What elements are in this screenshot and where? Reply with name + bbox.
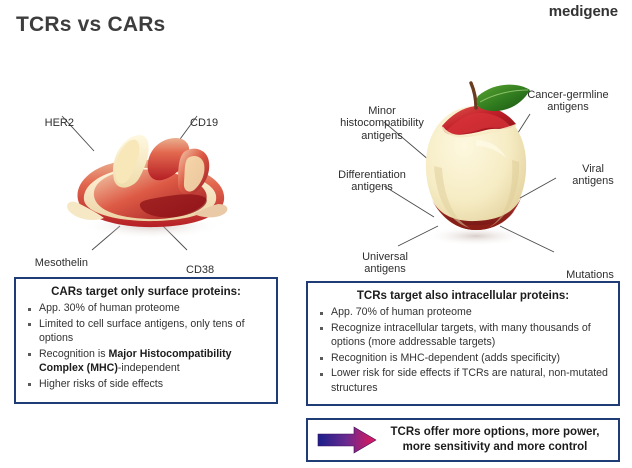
apple-peel-art [60,122,240,242]
callout-universal: Universal antigens [338,238,432,276]
bullet-text-cars-3: Higher risks of side effects [39,378,163,390]
callout-her2: HER2 [4,104,74,129]
callout-mutations: Mutations [548,256,632,281]
callout-cd19-label: CD19 [190,117,218,129]
medigene-logo: medigene [549,3,618,20]
cars-bullet-list: App. 30% of human proteome Limited to ce… [16,301,276,391]
page-title: TCRs vs CARs [16,13,165,37]
callout-cancer-germline: Cancer-germline antigens [504,76,632,114]
right-arrow-icon [316,426,378,454]
bullet-text-tcrs-3: Lower risk for side effects if TCRs are … [331,367,608,394]
cars-illustration-pane: HER2 CD19 Mesothelin CD38 [0,74,300,274]
callout-cd38: CD38 [186,251,256,276]
list-item: App. 70% of human proteome [318,305,610,320]
bullet-text-cars-0: App. 30% of human proteome [39,302,180,314]
list-item: Recognize intracellular targets, with ma… [318,321,610,350]
bullet-text-cars-1: Limited to cell surface antigens, only t… [39,318,245,345]
callout-mesothelin-label: Mesothelin [35,257,88,269]
callout-universal-label: Universal antigens [362,251,408,276]
tcrs-bullet-list: App. 70% of human proteome Recognize int… [308,305,618,395]
tcrs-box-heading: TCRs target also intracellular proteins: [308,283,618,305]
callout-cancer-germline-label: Cancer-germline antigens [527,89,608,114]
cars-box-heading: CARs target only surface proteins: [16,279,276,301]
callout-minor-histocompatibility-label: Minor histocompatibility antigens [340,105,424,142]
tcrs-illustration-pane: Minor histocompatibility antigens Cancer… [318,74,632,276]
tcrs-info-box: TCRs target also intracellular proteins:… [306,281,620,406]
callout-mutations-label: Mutations [566,269,614,281]
list-item: Limited to cell surface antigens, only t… [26,317,268,346]
callout-her2-label: HER2 [45,117,74,129]
bullet-text-tcrs-1: Recognize intracellular targets, with ma… [331,322,591,349]
list-item: App. 30% of human proteome [26,301,268,316]
callout-cd19: CD19 [190,104,260,129]
summary-box: TCRs offer more options, more power, mor… [306,418,620,462]
callout-differentiation: Differentiation antigens [318,156,426,194]
list-item: Recognition is Major Histocompatibility … [26,347,268,376]
callout-mesothelin: Mesothelin [2,244,88,269]
summary-text: TCRs offer more options, more power, mor… [378,425,618,455]
bullet-text-tcrs-2: Recognition is MHC-dependent (adds speci… [331,352,560,364]
callout-viral-label: Viral antigens [572,163,614,188]
callout-minor-histocompatibility: Minor histocompatibility antigens [318,92,446,142]
callout-cd38-label: CD38 [186,264,214,276]
callout-viral: Viral antigens [554,150,632,188]
bullet-text-cars-2-post: -independent [118,362,180,374]
cars-info-box: CARs target only surface proteins: App. … [14,277,278,404]
bullet-text-tcrs-0: App. 70% of human proteome [331,306,472,318]
callout-differentiation-label: Differentiation antigens [338,169,406,194]
bullet-text-cars-2-pre: Recognition is [39,348,109,360]
list-item: Recognition is MHC-dependent (adds speci… [318,351,610,366]
list-item: Higher risks of side effects [26,377,268,392]
list-item: Lower risk for side effects if TCRs are … [318,366,610,395]
